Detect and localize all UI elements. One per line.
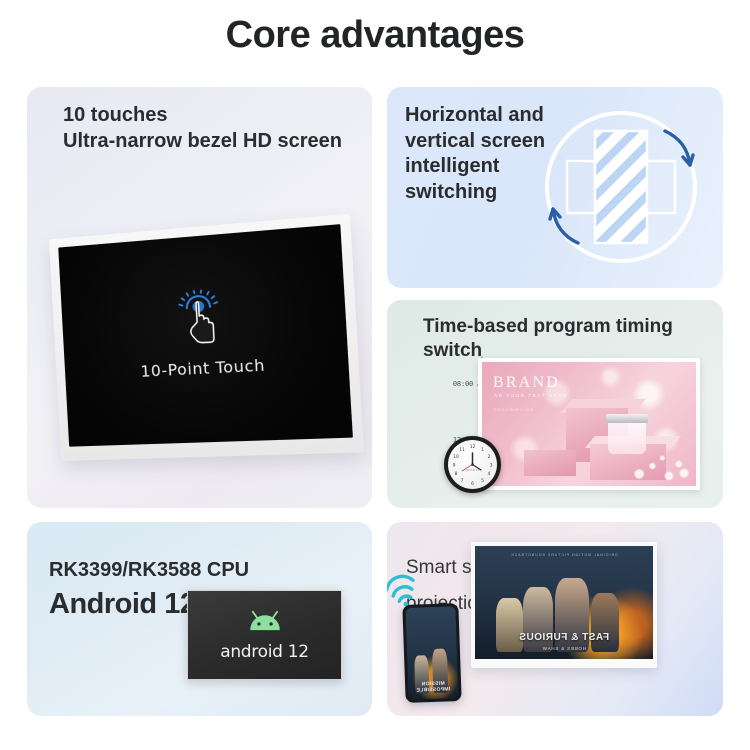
screen-rotation-icon [534,99,709,277]
timeline-label-0: 08:00 [453,380,473,388]
android-version-label: Android 12 [49,586,195,623]
touch-screen-label: 10-Point Touch [65,352,349,385]
ad-caption-text: DESCRIPTION [494,407,535,412]
svg-text:12: 12 [470,444,476,450]
page-root: Core advantages 10 touches Ultra-narrow … [0,0,750,750]
cpu-model-label: RK3399/RK3588 CPU [49,558,249,584]
svg-text:10: 10 [453,454,459,460]
clock-face: 12 1 2 3 4 5 6 7 8 9 10 11 [448,440,497,489]
ad-cosmetic-jar-lid [606,414,648,423]
timing-card-heading: Time-based program timing switch [423,315,723,364]
svg-text:7: 7 [461,478,464,484]
cast-tv-display: ORIGINAL MOTION PICTURE SOUNDTRACK FAST … [471,542,657,668]
cast-tv-screen: ORIGINAL MOTION PICTURE SOUNDTRACK FAST … [475,546,653,659]
phone-movie-title: MISSION IMPOSSIBLE [408,682,458,695]
ad-brand-text: BRAND [493,374,560,392]
svg-text:2: 2 [488,454,491,460]
android-logo-label: android 12 [220,642,309,662]
ad-podium [524,450,576,476]
svg-text:5: 5 [481,478,484,484]
tv-figure [496,598,523,652]
program-timing-card[interactable]: Time-based program timing switch 08:00 1… [387,300,723,508]
cpu-android-card[interactable]: RK3399/RK3588 CPU Android 12 android 12 [27,522,372,716]
android-logo-panel: android 12 [187,590,342,680]
smart-screen-projection-card[interactable]: Smart screen projection ORIGINAL MOTION … [387,522,723,716]
advertisement-content: BRAND AD YOUR TEXT HERE DESCRIPTION [482,362,696,486]
monitor-bezel: 10-Point Touch [49,214,364,461]
page-title: Core advantages [0,14,750,57]
svg-text:11: 11 [459,447,465,453]
svg-text:1: 1 [481,447,484,453]
analog-clock-icon: 12 1 2 3 4 5 6 7 8 9 10 11 [444,436,501,493]
ad-tagline-text: AD YOUR TEXT HERE [494,393,568,398]
android-robot-icon [245,609,285,637]
svg-text:6: 6 [471,481,474,487]
advertisement-display: BRAND AD YOUR TEXT HERE DESCRIPTION [478,358,700,490]
touch-monitor-illustration: 10-Point Touch [55,229,345,479]
hand-touch-icon [172,288,226,345]
cast-phone-screen: MISSION IMPOSSIBLE [405,606,458,700]
screen-rotation-card[interactable]: Horizontal and vertical screen intellige… [387,87,723,288]
clock-brand-text: QUARTZ [448,468,497,472]
tv-top-credits: ORIGINAL MOTION PICTURE SOUNDTRACK [475,553,653,557]
tv-movie-subtitle: HOBBS & SHAW [475,646,653,651]
tv-figure [591,593,619,652]
wifi-cast-icon [387,572,429,608]
10-touches-card[interactable]: 10 touches Ultra-narrow bezel HD screen [27,87,372,508]
rotation-card-heading: Horizontal and vertical screen intellige… [405,103,545,205]
monitor-screen: 10-Point Touch [58,224,353,447]
tv-movie-title: FAST & FURIOUS [475,632,653,643]
touch-card-heading: 10 touches Ultra-narrow bezel HD screen [63,103,342,154]
cast-phone-device: MISSION IMPOSSIBLE [402,603,461,703]
ad-sparkle-decoration [626,442,692,482]
